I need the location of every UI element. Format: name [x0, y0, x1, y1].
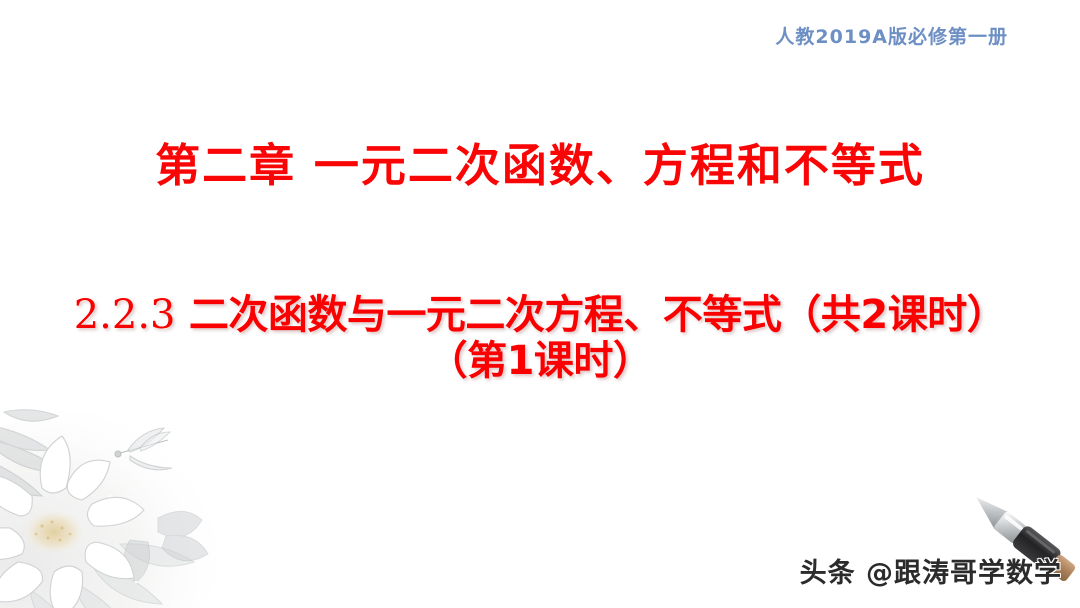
lesson-subtitle: 2.2.3 二次函数与一元二次方程、不等式（共2课时） （第1课时）	[0, 292, 1080, 385]
textbook-edition-label: 人教2019A版必修第一册	[775, 22, 1008, 49]
lesson-subtitle-line-2: （第1课时）	[0, 338, 1080, 384]
chapter-title: 第二章 一元二次函数、方程和不等式	[0, 138, 1080, 194]
lesson-number: 2.2.3	[74, 292, 176, 338]
presentation-slide: 人教2019A版必修第一册 第二章 一元二次函数、方程和不等式 2.2.3 二次…	[0, 0, 1080, 608]
lotus-flower-watercolor-icon	[0, 376, 270, 608]
channel-watermark: 头条 @跟涛哥学数学	[800, 551, 1062, 590]
lesson-subtitle-line-1: 2.2.3 二次函数与一元二次方程、不等式（共2课时）	[0, 292, 1080, 338]
lesson-subtitle-line-1-text: 二次函数与一元二次方程、不等式（共2课时）	[176, 292, 1007, 338]
